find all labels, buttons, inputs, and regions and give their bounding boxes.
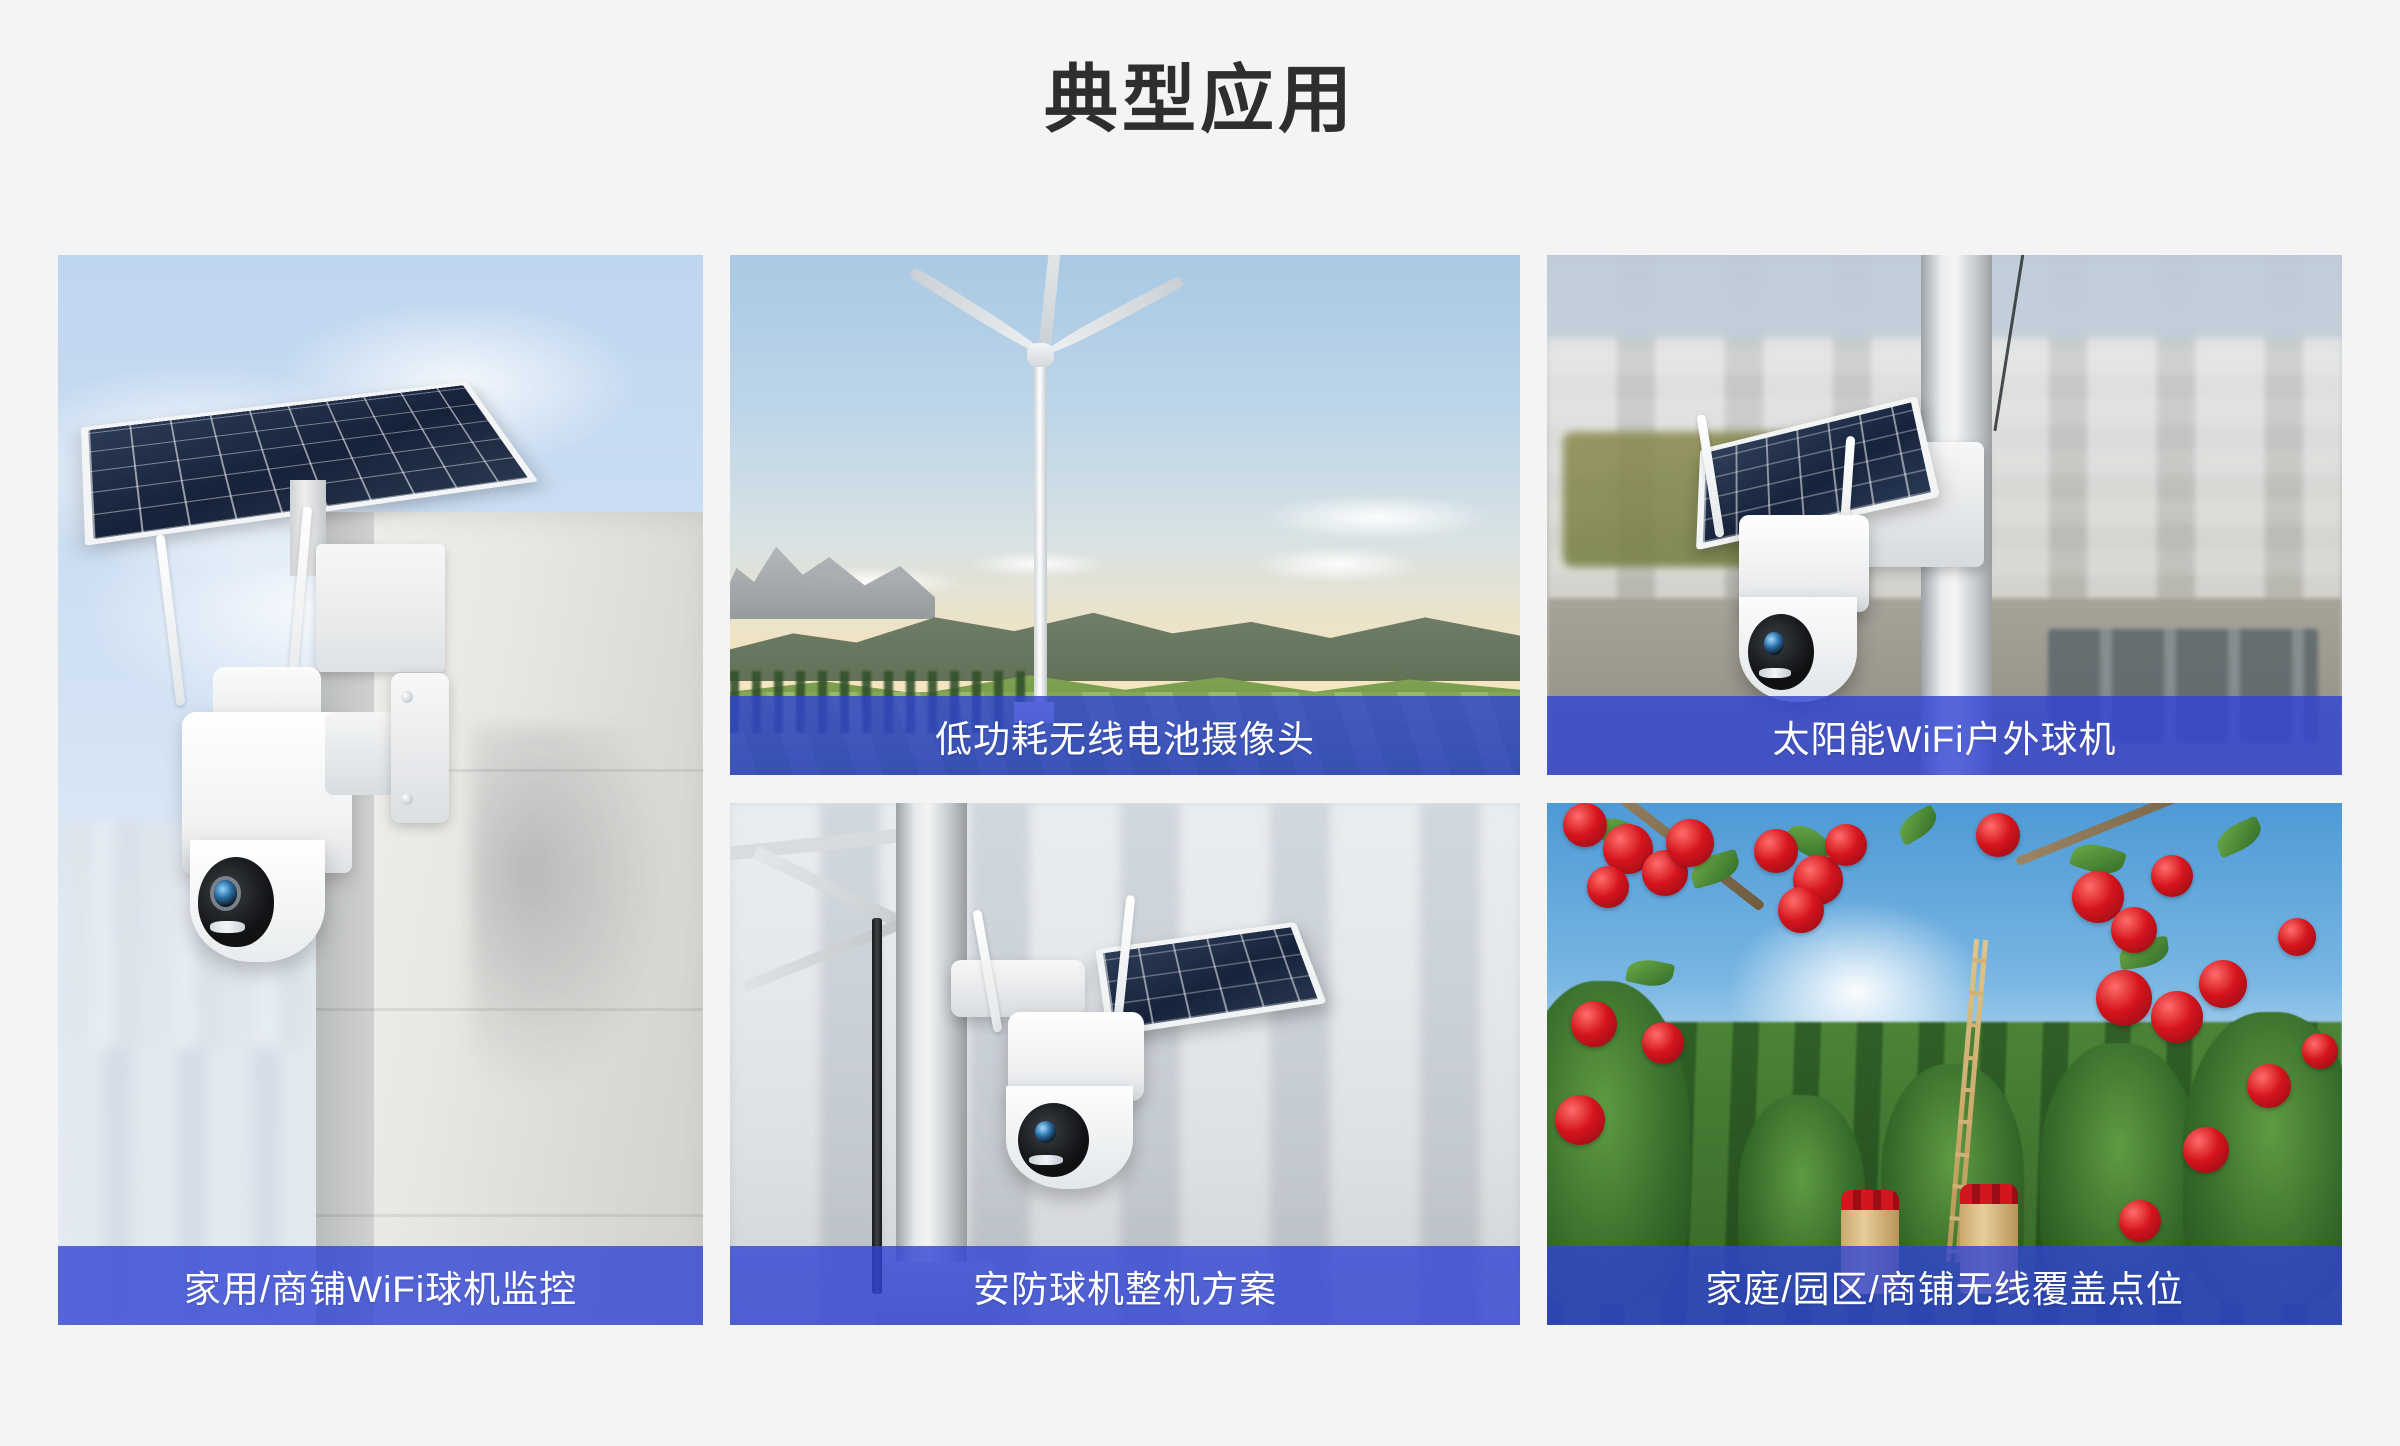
- camera-dome: [1739, 597, 1857, 702]
- card-caption-text: 家用/商铺WiFi球机监控: [184, 1259, 577, 1313]
- scene-home-wall-solar-ptz: [58, 255, 703, 1325]
- conduit-pipe: [872, 918, 881, 1294]
- camera-lens-icon: [1035, 1121, 1056, 1143]
- ptz-camera: [1730, 515, 1881, 702]
- camera-lens-face: [198, 857, 274, 948]
- card-caption-bar: 太阳能WiFi户外球机: [1547, 696, 2342, 775]
- application-card-grid: 家用/商铺WiFi球机监控: [58, 255, 2343, 1325]
- camera-dome: [1006, 1086, 1132, 1189]
- camera-mount-box: [316, 544, 445, 672]
- application-card-home-shop-wifi-ptz[interactable]: 家用/商铺WiFi球机监控: [58, 255, 703, 1325]
- card-caption-text: 低功耗无线电池摄像头: [935, 709, 1315, 763]
- card-caption-bar: 家庭/园区/商铺无线覆盖点位: [1547, 1246, 2342, 1325]
- turbine-hub: [1027, 343, 1054, 366]
- page-title: 典型应用: [0, 63, 2400, 137]
- ir-led-strip: [210, 921, 245, 933]
- turbine-tower: [1034, 349, 1047, 713]
- wall-mount-plate: [391, 673, 449, 823]
- card-caption-bar: 安防球机整机方案: [730, 1246, 1520, 1325]
- ptz-camera: [999, 1012, 1157, 1189]
- application-card-low-power-battery-camera[interactable]: 低功耗无线电池摄像头: [730, 255, 1520, 775]
- ptz-camera: [174, 662, 368, 940]
- camera-lens-icon: [1764, 632, 1784, 655]
- application-showcase-page: 典型应用: [0, 0, 2400, 1446]
- camera-lens-face: [1748, 614, 1814, 689]
- card-caption-text: 家庭/园区/商铺无线覆盖点位: [1705, 1259, 2184, 1313]
- card-caption-bar: 低功耗无线电池摄像头: [730, 696, 1520, 775]
- card-caption-text: 安防球机整机方案: [973, 1259, 1277, 1313]
- camera-dome: [190, 840, 325, 962]
- camera-lens-face: [1018, 1103, 1089, 1177]
- ir-led-strip: [1029, 1155, 1063, 1165]
- application-card-security-ptz-solution[interactable]: 安防球机整机方案: [730, 803, 1520, 1325]
- application-card-solar-wifi-outdoor-ptz[interactable]: 太阳能WiFi户外球机: [1547, 255, 2342, 775]
- camera-arm: [951, 960, 1085, 1017]
- camera-shadow: [471, 726, 665, 1090]
- card-caption-bar: 家用/商铺WiFi球机监控: [58, 1246, 703, 1325]
- camera-lens-icon: [214, 880, 237, 907]
- card-caption-text: 太阳能WiFi户外球机: [1773, 709, 2117, 763]
- application-card-home-park-shop-wireless[interactable]: 家庭/园区/商铺无线覆盖点位: [1547, 803, 2342, 1325]
- ir-led-strip: [1759, 668, 1791, 678]
